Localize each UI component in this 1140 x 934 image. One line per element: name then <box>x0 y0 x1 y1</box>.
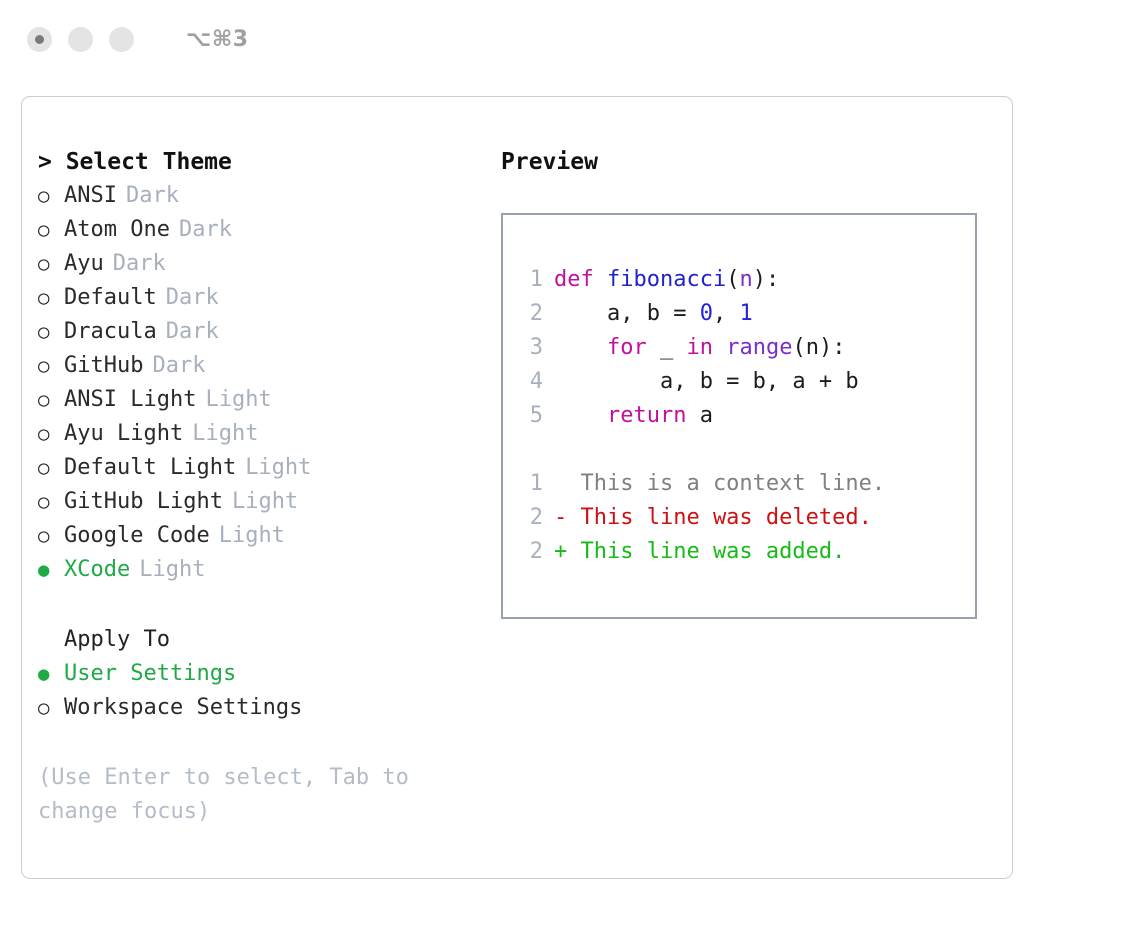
code-line-number: 3 <box>517 331 543 365</box>
code-line: 4 a, b = b, a + b <box>517 365 971 399</box>
theme-option-github-light[interactable]: ○GitHub LightLight <box>38 485 488 519</box>
theme-option-dracula[interactable]: ○DraculaDark <box>38 315 488 349</box>
radio-unselected-icon: ○ <box>38 417 64 451</box>
diff-line-content: + This line was added. <box>554 535 845 569</box>
theme-option-default-light[interactable]: ○Default LightLight <box>38 451 488 485</box>
code-line-content: return a <box>554 399 713 433</box>
code-token: fibonacci <box>607 267 726 292</box>
code-token: (n): <box>792 335 845 360</box>
theme-option-variant: Light <box>139 553 205 587</box>
diff-line-number: 2 <box>517 535 543 569</box>
theme-option-github[interactable]: ○GitHubDark <box>38 349 488 383</box>
diff-line-content: This is a context line. <box>554 467 885 501</box>
code-line: 1def fibonacci(n): <box>517 263 971 297</box>
theme-option-ansi-light[interactable]: ○ANSI LightLight <box>38 383 488 417</box>
code-token <box>554 335 607 360</box>
diff-line: 2+ This line was added. <box>517 535 971 569</box>
code-token: def <box>554 267 607 292</box>
code-token: ): <box>753 267 780 292</box>
theme-option-variant: Light <box>205 383 271 417</box>
title-bar: ⌥⌘3 <box>0 0 1140 78</box>
theme-option-atom-one[interactable]: ○Atom OneDark <box>38 213 488 247</box>
code-token <box>713 335 726 360</box>
diff-line-number: 1 <box>517 467 543 501</box>
theme-option-label: Google Code <box>64 519 210 553</box>
radio-unselected-icon: ○ <box>38 691 64 725</box>
apply-to-option-label: User Settings <box>64 657 236 691</box>
radio-unselected-icon: ○ <box>38 281 64 315</box>
theme-list: ○ANSIDark○Atom OneDark○AyuDark○DefaultDa… <box>38 179 488 587</box>
code-line-number: 2 <box>517 297 543 331</box>
theme-option-variant: Dark <box>166 315 219 349</box>
theme-option-label: Atom One <box>64 213 170 247</box>
apply-to-heading: Apply To <box>38 623 488 657</box>
diff-line-number: 2 <box>517 501 543 535</box>
code-token: n <box>739 267 752 292</box>
apply-to-option-label: Workspace Settings <box>64 691 302 725</box>
radio-selected-icon: ● <box>38 657 64 691</box>
theme-option-variant: Dark <box>126 179 179 213</box>
preview-heading: Preview <box>501 145 1001 179</box>
code-line: 2 a, b = 0, 1 <box>517 297 971 331</box>
theme-option-label: XCode <box>64 553 130 587</box>
theme-option-variant: Dark <box>166 281 219 315</box>
theme-option-label: ANSI <box>64 179 117 213</box>
diff-line: 2- This line was deleted. <box>517 501 971 535</box>
radio-unselected-icon: ○ <box>38 179 64 213</box>
theme-option-xcode[interactable]: ●XCodeLight <box>38 553 488 587</box>
radio-unselected-icon: ○ <box>38 519 64 553</box>
theme-option-label: GitHub <box>64 349 143 383</box>
code-token: a, b = <box>554 301 700 326</box>
code-token: return <box>607 403 686 428</box>
keyboard-shortcut-label: ⌥⌘3 <box>186 27 249 52</box>
diff-lines: 1 This is a context line.2- This line wa… <box>517 467 971 569</box>
radio-unselected-icon: ○ <box>38 485 64 519</box>
select-theme-heading: > Select Theme <box>38 145 488 179</box>
theme-option-variant: Light <box>245 451 311 485</box>
theme-option-google-code[interactable]: ○Google CodeLight <box>38 519 488 553</box>
code-sample: 1def fibonacci(n):2 a, b = 0, 13 for _ i… <box>517 263 971 569</box>
theme-option-variant: Light <box>192 417 258 451</box>
theme-option-label: Ayu <box>64 247 104 281</box>
code-token: in <box>686 335 713 360</box>
theme-option-ayu-light[interactable]: ○Ayu LightLight <box>38 417 488 451</box>
radio-selected-icon: ● <box>38 553 64 587</box>
code-token: a <box>686 403 713 428</box>
theme-option-variant: Dark <box>113 247 166 281</box>
main-panel: > Select Theme ○ANSIDark○Atom OneDark○Ay… <box>21 96 1013 879</box>
radio-unselected-icon: ○ <box>38 315 64 349</box>
apply-to-option-user-settings[interactable]: ●User Settings <box>38 657 488 691</box>
section-spacer <box>38 587 488 623</box>
radio-unselected-icon: ○ <box>38 247 64 281</box>
theme-option-variant: Light <box>232 485 298 519</box>
radio-unselected-icon: ○ <box>38 349 64 383</box>
theme-option-variant: Dark <box>179 213 232 247</box>
code-lines: 1def fibonacci(n):2 a, b = 0, 13 for _ i… <box>517 263 971 433</box>
app-window: ⌥⌘3 > Select Theme ○ANSIDark○Atom OneDar… <box>0 0 1140 934</box>
apply-to-option-workspace-settings[interactable]: ○Workspace Settings <box>38 691 488 725</box>
code-token <box>554 403 607 428</box>
code-token: _ <box>647 335 687 360</box>
theme-option-label: Dracula <box>64 315 157 349</box>
code-line-content: for _ in range(n): <box>554 331 845 365</box>
theme-option-label: GitHub Light <box>64 485 223 519</box>
code-token: 0 <box>700 301 713 326</box>
preview-column: Preview 1def fibonacci(n):2 a, b = 0, 13… <box>501 145 1001 619</box>
code-line-number: 1 <box>517 263 543 297</box>
theme-option-default[interactable]: ○DefaultDark <box>38 281 488 315</box>
keyboard-hint-text: (Use Enter to select, Tab to change focu… <box>38 761 448 829</box>
theme-selector-column: > Select Theme ○ANSIDark○Atom OneDark○Ay… <box>38 145 488 829</box>
radio-unselected-icon: ○ <box>38 213 64 247</box>
theme-option-label: ANSI Light <box>64 383 196 417</box>
code-line-number: 5 <box>517 399 543 433</box>
theme-option-label: Default <box>64 281 157 315</box>
radio-unselected-icon: ○ <box>38 383 64 417</box>
traffic-light-dot-3[interactable] <box>109 27 134 52</box>
code-line: 5 return a <box>517 399 971 433</box>
theme-option-label: Ayu Light <box>64 417 183 451</box>
theme-option-label: Default Light <box>64 451 236 485</box>
theme-option-variant: Dark <box>152 349 205 383</box>
traffic-light-dot-2[interactable] <box>68 27 93 52</box>
code-line-number: 4 <box>517 365 543 399</box>
diff-line-content: - This line was deleted. <box>554 501 872 535</box>
preview-box: 1def fibonacci(n):2 a, b = 0, 13 for _ i… <box>501 213 977 619</box>
code-line: 3 for _ in range(n): <box>517 331 971 365</box>
traffic-light-dot-1-indicator <box>35 35 44 44</box>
code-token: range <box>726 335 792 360</box>
theme-option-ayu[interactable]: ○AyuDark <box>38 247 488 281</box>
code-diff-spacer <box>517 433 971 467</box>
code-token: , <box>713 301 740 326</box>
theme-option-variant: Light <box>219 519 285 553</box>
radio-unselected-icon: ○ <box>38 451 64 485</box>
code-line-content: a, b = b, a + b <box>554 365 859 399</box>
code-line-content: def fibonacci(n): <box>554 263 779 297</box>
diff-line: 1 This is a context line. <box>517 467 971 501</box>
theme-option-ansi[interactable]: ○ANSIDark <box>38 179 488 213</box>
code-token: a, b = b, a + b <box>554 369 859 394</box>
code-line-content: a, b = 0, 1 <box>554 297 753 331</box>
code-token: 1 <box>739 301 752 326</box>
code-token: for <box>607 335 647 360</box>
apply-to-list: ●User Settings○Workspace Settings <box>38 657 488 725</box>
traffic-light-dot-1[interactable] <box>27 27 52 52</box>
code-token: ( <box>726 267 739 292</box>
